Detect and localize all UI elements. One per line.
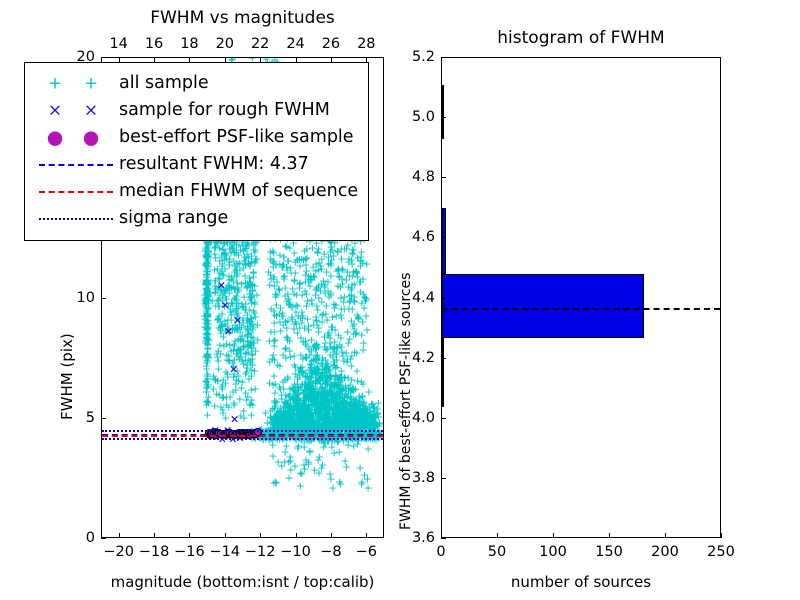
data-point-all-sample: + [292, 408, 301, 419]
data-point-all-sample: + [282, 413, 291, 424]
data-point-all-sample: + [204, 335, 213, 346]
data-point-all-sample: + [300, 395, 309, 406]
histogram-axes[interactable] [441, 57, 721, 538]
data-point-all-sample: + [316, 261, 325, 272]
data-point-all-sample: + [311, 351, 320, 362]
data-point-all-sample: + [308, 386, 317, 397]
data-point-all-sample: + [305, 383, 314, 394]
data-point-all-sample: + [353, 407, 362, 418]
data-point-all-sample: + [218, 245, 227, 256]
data-point-all-sample: + [329, 356, 338, 367]
data-point-all-sample: + [329, 418, 338, 429]
data-point-all-sample: + [270, 403, 279, 414]
data-point-all-sample: + [300, 441, 309, 452]
data-point-all-sample: + [319, 372, 328, 383]
data-point-all-sample: + [293, 415, 302, 426]
data-point-all-sample: + [329, 394, 338, 405]
data-point-all-sample: + [348, 416, 357, 427]
data-point-all-sample: + [305, 281, 314, 292]
data-point-all-sample: + [230, 267, 239, 278]
data-point-all-sample: + [349, 401, 358, 412]
data-point-all-sample: + [295, 412, 304, 423]
data-point-all-sample: + [307, 360, 316, 371]
data-point-all-sample: + [346, 417, 355, 428]
data-point-all-sample: + [364, 410, 373, 421]
data-point-all-sample: + [314, 408, 323, 419]
data-point-all-sample: + [203, 249, 212, 260]
data-point-all-sample: + [283, 288, 292, 299]
data-point-all-sample: + [247, 331, 256, 342]
data-point-all-sample: + [267, 255, 276, 266]
data-point-all-sample: + [306, 411, 315, 422]
data-point-all-sample: + [347, 385, 356, 396]
data-point-all-sample: + [246, 365, 255, 376]
legend-box[interactable]: ++all sample××sample for rough FWHM●●bes… [24, 62, 369, 241]
data-point-all-sample: + [226, 307, 235, 318]
data-point-all-sample: + [203, 339, 212, 350]
data-point-all-sample: + [285, 300, 294, 311]
data-point-all-sample: + [330, 397, 339, 408]
data-point-all-sample: + [284, 298, 293, 309]
hist-x-tick-mark [721, 533, 722, 538]
data-point-all-sample: + [290, 409, 299, 420]
data-point-all-sample: + [331, 403, 340, 414]
data-point-all-sample: + [239, 341, 248, 352]
data-point-all-sample: + [356, 404, 365, 415]
data-point-all-sample: + [222, 254, 231, 265]
data-point-all-sample: + [301, 371, 310, 382]
data-point-all-sample: + [368, 413, 377, 424]
data-point-all-sample: + [224, 256, 233, 267]
data-point-all-sample: + [316, 400, 325, 411]
data-point-all-sample: + [341, 418, 350, 429]
data-point-all-sample: + [316, 285, 325, 296]
histogram-bar[interactable] [442, 208, 446, 274]
legend-item[interactable]: sigma range [33, 205, 360, 232]
data-point-all-sample: + [300, 286, 309, 297]
data-point-all-sample: + [268, 404, 277, 415]
data-point-all-sample: + [330, 382, 339, 393]
data-point-all-sample: + [203, 247, 212, 258]
data-point-all-sample: + [342, 422, 351, 433]
data-point-all-sample: + [332, 266, 341, 277]
data-point-all-sample: + [344, 386, 353, 397]
data-point-all-sample: + [347, 405, 356, 416]
data-point-all-sample: + [292, 254, 301, 265]
data-point-all-sample: + [349, 384, 358, 395]
data-point-all-sample: + [204, 274, 213, 285]
data-point-all-sample: + [334, 418, 343, 429]
data-point-all-sample: + [202, 333, 211, 344]
data-point-all-sample: + [317, 389, 326, 400]
data-point-all-sample: + [292, 396, 301, 407]
data-point-all-sample: + [281, 398, 290, 409]
data-point-all-sample: + [246, 314, 255, 325]
data-point-all-sample: + [241, 255, 250, 266]
data-point-all-sample: + [356, 415, 365, 426]
data-point-all-sample: + [330, 410, 339, 421]
hist-x-tick-label: 100 [539, 544, 567, 560]
data-point-all-sample: + [243, 310, 252, 321]
data-point-all-sample: + [337, 413, 346, 424]
data-point-all-sample: + [271, 414, 280, 425]
data-point-all-sample: + [353, 409, 362, 420]
data-point-all-sample: + [201, 246, 210, 257]
data-point-all-sample: + [362, 414, 371, 425]
data-point-all-sample: + [361, 413, 370, 424]
data-point-all-sample: + [293, 373, 302, 384]
data-point-all-sample: + [318, 354, 327, 365]
data-point-all-sample: + [231, 293, 240, 304]
histogram-y-axis-label: FWHM of best-effort PSF-like sources [398, 273, 414, 530]
data-point-all-sample: + [272, 289, 281, 300]
data-point-all-sample: + [292, 401, 301, 412]
data-point-all-sample: + [330, 378, 339, 389]
data-point-all-sample: + [359, 406, 368, 417]
data-point-all-sample: + [307, 356, 316, 367]
data-point-all-sample: + [214, 282, 223, 293]
data-point-all-sample: + [330, 410, 339, 421]
data-point-all-sample: + [301, 413, 310, 424]
data-point-all-sample: + [227, 272, 236, 283]
data-point-all-sample: + [302, 409, 311, 420]
hist-x-tick-mark [497, 533, 498, 538]
data-point-all-sample: + [202, 294, 211, 305]
data-point-all-sample: + [270, 418, 279, 429]
data-point-all-sample: + [307, 389, 316, 400]
data-point-all-sample: + [326, 372, 335, 383]
data-point-all-sample: + [291, 368, 300, 379]
legend-item[interactable]: ××sample for rough FWHM [33, 97, 360, 124]
data-point-all-sample: + [347, 407, 356, 418]
data-point-all-sample: + [328, 391, 337, 402]
data-point-all-sample: + [350, 423, 359, 434]
data-point-all-sample: + [362, 293, 371, 304]
data-point-all-sample: + [334, 422, 343, 433]
data-point-all-sample: + [349, 408, 358, 419]
data-point-all-sample: + [369, 403, 378, 414]
data-point-all-sample: + [355, 414, 364, 425]
data-point-all-sample: + [287, 419, 296, 430]
data-point-all-sample: + [312, 384, 321, 395]
data-point-all-sample: + [371, 407, 380, 418]
data-point-all-sample: + [349, 395, 358, 406]
data-point-all-sample: + [305, 364, 314, 375]
data-point-all-sample: + [213, 295, 222, 306]
data-point-all-sample: + [318, 384, 327, 395]
data-point-all-sample: + [319, 398, 328, 409]
data-point-all-sample: + [324, 372, 333, 383]
data-point-all-sample: + [351, 400, 360, 411]
data-point-all-sample: + [324, 388, 333, 399]
data-point-all-sample: + [281, 389, 290, 400]
data-point-all-sample: + [201, 314, 210, 325]
histogram-bar[interactable] [442, 338, 444, 407]
data-point-all-sample: + [211, 286, 220, 297]
data-point-all-sample: + [341, 413, 350, 424]
data-point-all-sample: + [327, 386, 336, 397]
data-point-all-sample: + [236, 347, 245, 358]
data-point-all-sample: + [244, 373, 253, 384]
data-point-all-sample: + [340, 393, 349, 404]
data-point-all-sample: + [270, 255, 279, 266]
data-point-all-sample: + [314, 265, 323, 276]
data-point-all-sample: + [311, 368, 320, 379]
data-point-all-sample: + [329, 356, 338, 367]
data-point-all-sample: + [311, 376, 320, 387]
data-point-all-sample: + [354, 418, 363, 429]
legend-item[interactable]: median FHWM of sequence [33, 178, 360, 205]
data-point-all-sample: + [340, 408, 349, 419]
data-point-all-sample: + [215, 317, 224, 328]
data-point-all-sample: + [227, 315, 236, 326]
legend-marker-filled-circle-icon: ●● [33, 128, 119, 148]
data-point-all-sample: + [368, 399, 377, 410]
data-point-all-sample: + [281, 414, 290, 425]
data-point-all-sample: + [284, 456, 293, 467]
data-point-all-sample: + [340, 303, 349, 314]
data-point-all-sample: + [225, 281, 234, 292]
data-point-all-sample: + [268, 439, 277, 450]
data-point-all-sample: + [362, 418, 371, 429]
data-point-all-sample: + [304, 413, 313, 424]
data-point-all-sample: + [347, 393, 356, 404]
data-point-all-sample: + [364, 417, 373, 428]
data-point-all-sample: + [237, 279, 246, 290]
data-point-all-sample: + [240, 256, 249, 267]
data-point-all-sample: + [287, 403, 296, 414]
data-point-all-sample: + [279, 383, 288, 394]
data-point-all-sample: + [279, 406, 288, 417]
data-point-all-sample: + [274, 419, 283, 430]
data-point-all-sample: + [323, 358, 332, 369]
data-point-all-sample: + [338, 351, 347, 362]
data-point-all-sample: + [325, 371, 334, 382]
data-point-all-sample: + [246, 358, 255, 369]
hist-y-tick-mark [441, 237, 446, 238]
data-point-all-sample: + [306, 377, 315, 388]
data-point-all-sample: + [225, 259, 234, 270]
data-point-all-sample: + [300, 322, 309, 333]
data-point-all-sample: + [293, 418, 302, 429]
data-point-all-sample: + [286, 409, 295, 420]
data-point-all-sample: + [246, 328, 255, 339]
data-point-all-sample: + [299, 388, 308, 399]
data-point-all-sample: + [346, 354, 355, 365]
cross-icon: × [84, 102, 98, 119]
data-point-all-sample: + [281, 413, 290, 424]
data-point-all-sample: + [241, 348, 250, 359]
data-point-all-sample: + [202, 282, 211, 293]
data-point-all-sample: + [354, 313, 363, 324]
data-point-all-sample: + [290, 386, 299, 397]
data-point-all-sample: + [359, 413, 368, 424]
data-point-all-sample: + [350, 394, 359, 405]
data-point-all-sample: + [359, 398, 368, 409]
data-point-all-sample: + [347, 350, 356, 361]
data-point-all-sample: + [356, 408, 365, 419]
data-point-all-sample: + [320, 331, 329, 342]
data-point-all-sample: + [328, 312, 337, 323]
data-point-all-sample: + [218, 308, 227, 319]
data-point-all-sample: + [308, 392, 317, 403]
data-point-all-sample: + [354, 312, 363, 323]
data-point-all-sample: + [334, 418, 343, 429]
data-point-all-sample: + [317, 414, 326, 425]
data-point-all-sample: + [295, 254, 304, 265]
legend-item[interactable]: ++all sample [33, 70, 360, 97]
data-point-all-sample: + [320, 365, 329, 376]
data-point-all-sample: + [322, 388, 331, 399]
data-point-all-sample: + [304, 275, 313, 286]
data-point-all-sample: + [305, 422, 314, 433]
data-point-all-sample: + [370, 418, 379, 429]
data-point-all-sample: + [233, 311, 242, 322]
histogram-bar[interactable] [442, 274, 644, 337]
data-point-all-sample: + [310, 366, 319, 377]
data-point-all-sample: + [352, 402, 361, 413]
data-point-all-sample: + [281, 418, 290, 429]
data-point-all-sample: + [324, 291, 333, 302]
data-point-all-sample: + [216, 348, 225, 359]
data-point-all-sample: + [295, 406, 304, 417]
x-tick-label: −6 [356, 544, 377, 560]
data-point-all-sample: + [361, 418, 370, 429]
data-point-all-sample: + [332, 310, 341, 321]
data-point-all-sample: + [202, 303, 211, 314]
data-point-all-sample: + [248, 400, 257, 411]
data-point-all-sample: + [307, 419, 316, 430]
legend-item[interactable]: ●●best-effort PSF-like sample [33, 124, 360, 151]
data-point-all-sample: + [286, 465, 295, 476]
data-point-all-sample: + [362, 416, 371, 427]
data-point-all-sample: + [202, 323, 211, 334]
data-point-all-sample: + [316, 435, 325, 446]
data-point-all-sample: + [269, 349, 278, 360]
data-point-all-sample: + [370, 402, 379, 413]
data-point-all-sample: + [344, 257, 353, 268]
data-point-all-sample: + [203, 349, 212, 360]
data-point-all-sample: + [232, 277, 241, 288]
data-point-all-sample: + [335, 372, 344, 383]
data-point-all-sample: + [353, 411, 362, 422]
data-point-all-sample: + [336, 408, 345, 419]
data-point-all-sample: + [313, 391, 322, 402]
data-point-all-sample: + [354, 401, 363, 412]
data-point-all-sample: + [299, 336, 308, 347]
data-point-all-sample: + [295, 416, 304, 427]
data-point-all-sample: + [241, 305, 250, 316]
data-point-all-sample: + [324, 365, 333, 376]
histogram-bar[interactable] [442, 85, 444, 139]
data-point-all-sample: + [310, 416, 319, 427]
data-point-all-sample: + [202, 270, 211, 281]
data-point-all-sample: + [352, 412, 361, 423]
data-point-all-sample: + [269, 335, 278, 346]
data-point-all-sample: + [290, 416, 299, 427]
data-point-all-sample: + [265, 357, 274, 368]
data-point-all-sample: + [317, 382, 326, 393]
data-point-all-sample: + [240, 304, 249, 315]
data-point-all-sample: + [304, 411, 313, 422]
data-point-all-sample: + [347, 247, 356, 258]
data-point-all-sample: + [286, 413, 295, 424]
data-point-all-sample: + [312, 416, 321, 427]
data-point-all-sample: + [231, 336, 240, 347]
legend-item[interactable]: resultant FWHM: 4.37 [33, 151, 360, 178]
data-point-all-sample: + [293, 254, 302, 265]
data-point-all-sample: + [239, 336, 248, 347]
data-point-all-sample: + [202, 298, 211, 309]
data-point-all-sample: + [339, 406, 348, 417]
data-point-all-sample: + [331, 370, 340, 381]
data-point-all-sample: + [333, 418, 342, 429]
data-point-all-sample: + [306, 388, 315, 399]
data-point-all-sample: + [358, 405, 367, 416]
data-point-all-sample: + [313, 398, 322, 409]
data-point-all-sample: + [202, 295, 211, 306]
data-point-all-sample: + [303, 408, 312, 419]
data-point-all-sample: + [282, 417, 291, 428]
data-point-all-sample: + [298, 409, 307, 420]
data-point-all-sample: + [246, 281, 255, 292]
data-point-all-sample: + [341, 413, 350, 424]
data-point-all-sample: + [352, 415, 361, 426]
data-point-all-sample: + [335, 271, 344, 282]
x-tick-mark [296, 533, 297, 538]
data-point-all-sample: + [318, 418, 327, 429]
data-point-all-sample: + [336, 332, 345, 343]
data-point-all-sample: + [203, 369, 212, 380]
data-point-all-sample: + [325, 366, 334, 377]
data-point-all-sample: + [353, 404, 362, 415]
data-point-all-sample: + [320, 402, 329, 413]
data-point-all-sample: + [329, 416, 338, 427]
x-tick-label: −18 [139, 544, 170, 560]
data-point-all-sample: + [228, 298, 237, 309]
data-point-all-sample: + [293, 396, 302, 407]
data-point-all-sample: + [296, 381, 305, 392]
data-point-all-sample: + [334, 270, 343, 281]
data-point-all-sample: + [352, 267, 361, 278]
data-point-all-sample: + [333, 403, 342, 414]
data-point-all-sample: + [272, 416, 281, 427]
data-point-all-sample: + [346, 418, 355, 429]
data-point-all-sample: + [321, 364, 330, 375]
data-point-all-sample: + [334, 419, 343, 430]
data-point-all-sample: + [347, 374, 356, 385]
data-point-all-sample: + [203, 279, 212, 290]
data-point-all-sample: + [367, 399, 376, 410]
data-point-all-sample: + [285, 412, 294, 423]
data-point-all-sample: + [202, 293, 211, 304]
data-point-all-sample: + [348, 271, 357, 282]
data-point-all-sample: + [223, 314, 232, 325]
data-point-all-sample: + [342, 410, 351, 421]
data-point-all-sample: + [348, 412, 357, 423]
data-point-all-sample: + [203, 315, 212, 326]
data-point-all-sample: + [311, 404, 320, 415]
data-point-all-sample: + [285, 297, 294, 308]
hist-x-tick-label: 50 [488, 544, 506, 560]
data-point-all-sample: + [327, 396, 336, 407]
data-point-all-sample: + [202, 296, 211, 307]
data-point-all-sample: + [246, 316, 255, 327]
data-point-all-sample: + [317, 264, 326, 275]
data-point-all-sample: + [304, 407, 313, 418]
data-point-all-sample: + [338, 397, 347, 408]
data-point-all-sample: + [290, 276, 299, 287]
